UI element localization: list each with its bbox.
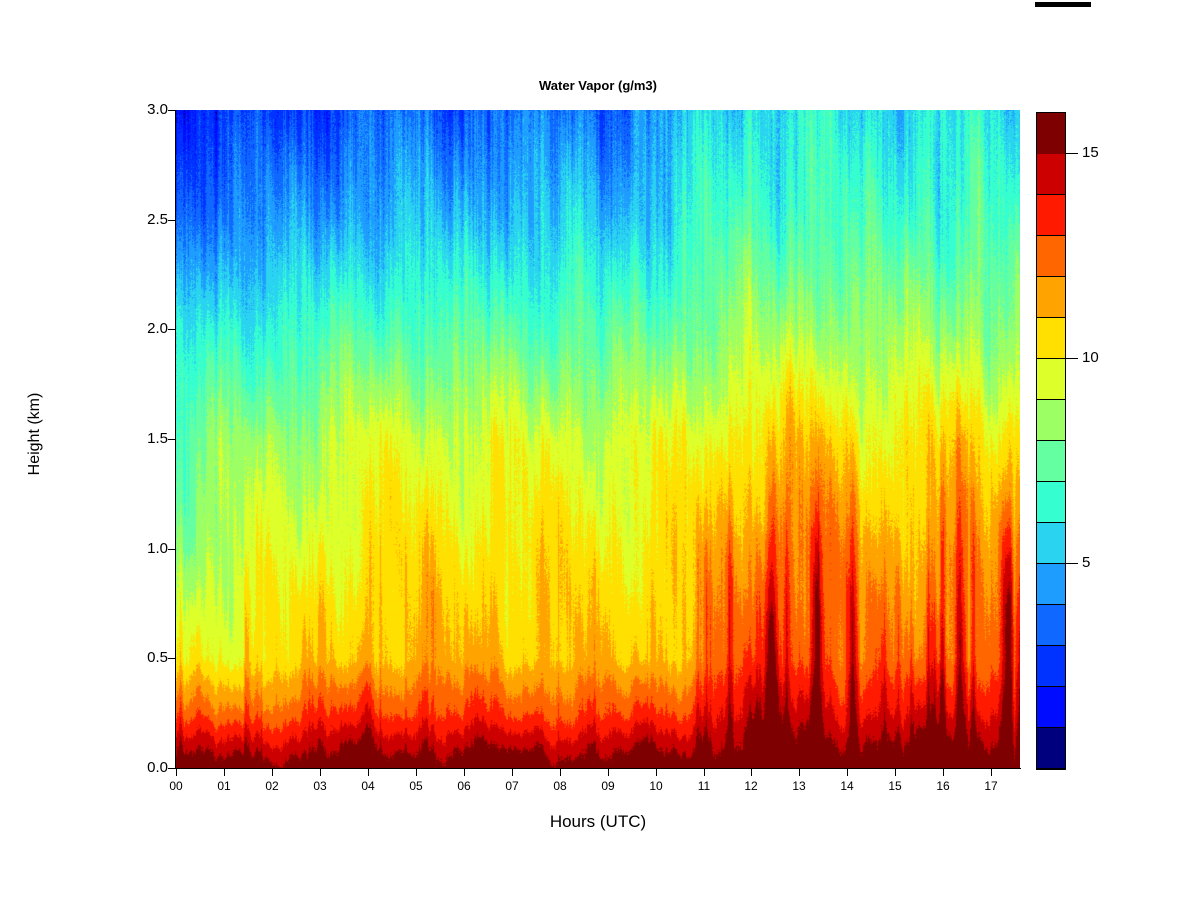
colorbar-band xyxy=(1037,441,1065,482)
y-tick-mark xyxy=(168,110,175,111)
water-vapor-time-height-figure: Water Vapor (g/m3) 0.00.51.01.52.02.53.0… xyxy=(0,0,1200,900)
x-tick-mark xyxy=(464,769,465,776)
y-tick-label: 2.0 xyxy=(128,320,168,337)
x-tick-label: 04 xyxy=(348,779,388,793)
colorbar-band xyxy=(1037,277,1065,318)
colorbar-band xyxy=(1037,154,1065,195)
y-tick-mark xyxy=(168,439,175,440)
y-tick-label: 1.5 xyxy=(128,430,168,447)
x-tick-mark xyxy=(943,769,944,776)
colorbar-tick-label: 15 xyxy=(1082,145,1099,161)
colorbar-band xyxy=(1037,482,1065,523)
x-tick-mark xyxy=(272,769,273,776)
x-tick-mark xyxy=(895,769,896,776)
colorbar-band xyxy=(1037,400,1065,441)
heatmap-plot-area xyxy=(176,110,1020,768)
y-tick-mark xyxy=(168,768,175,769)
x-tick-mark xyxy=(799,769,800,776)
x-tick-label: 01 xyxy=(204,779,244,793)
x-tick-label: 07 xyxy=(492,779,532,793)
y-tick-mark xyxy=(168,220,175,221)
x-tick-mark xyxy=(176,769,177,776)
x-tick-label: 08 xyxy=(540,779,580,793)
y-axis-line xyxy=(175,110,176,769)
x-tick-mark xyxy=(320,769,321,776)
x-tick-mark xyxy=(224,769,225,776)
colorbar-band xyxy=(1037,236,1065,277)
x-tick-label: 14 xyxy=(827,779,867,793)
x-tick-mark xyxy=(368,769,369,776)
x-tick-label: 00 xyxy=(156,779,196,793)
x-tick-label: 02 xyxy=(252,779,292,793)
colorbar-tick-mark xyxy=(1066,358,1078,359)
colorbar-band xyxy=(1037,605,1065,646)
x-tick-label: 10 xyxy=(636,779,676,793)
x-tick-label: 16 xyxy=(923,779,963,793)
colorbar-band xyxy=(1037,318,1065,359)
y-tick-label: 0.0 xyxy=(128,759,168,776)
y-axis-title: Height (km) xyxy=(26,354,44,514)
x-tick-mark xyxy=(751,769,752,776)
y-tick-mark xyxy=(168,658,175,659)
x-tick-mark xyxy=(991,769,992,776)
colorbar-band xyxy=(1037,564,1065,605)
colorbar xyxy=(1036,112,1066,770)
y-tick-label: 3.0 xyxy=(128,101,168,118)
x-tick-label: 03 xyxy=(300,779,340,793)
y-tick-label: 1.0 xyxy=(128,540,168,557)
x-tick-label: 15 xyxy=(875,779,915,793)
colorbar-band xyxy=(1037,523,1065,564)
x-tick-label: 06 xyxy=(444,779,484,793)
x-tick-label: 13 xyxy=(779,779,819,793)
x-tick-mark xyxy=(560,769,561,776)
colorbar-band xyxy=(1037,113,1065,154)
colorbar-tick-label: 10 xyxy=(1082,350,1099,366)
x-tick-label: 09 xyxy=(588,779,628,793)
x-tick-label: 17 xyxy=(971,779,1011,793)
colorbar-band xyxy=(1037,646,1065,687)
x-tick-mark xyxy=(416,769,417,776)
x-tick-label: 12 xyxy=(731,779,771,793)
colorbar-tick-label: 5 xyxy=(1082,555,1090,571)
colorbar-band xyxy=(1037,687,1065,728)
y-tick-mark xyxy=(168,549,175,550)
x-tick-mark xyxy=(608,769,609,776)
x-tick-mark xyxy=(704,769,705,776)
chart-title: Water Vapor (g/m3) xyxy=(176,78,1020,93)
y-tick-mark xyxy=(168,329,175,330)
colorbar-band xyxy=(1037,728,1065,769)
x-tick-label: 11 xyxy=(684,779,724,793)
y-tick-label: 2.5 xyxy=(128,211,168,228)
colorbar-band xyxy=(1037,359,1065,400)
colorbar-tick-mark xyxy=(1066,563,1078,564)
y-tick-label: 0.5 xyxy=(128,649,168,666)
x-tick-mark xyxy=(512,769,513,776)
x-axis-title: Hours (UTC) xyxy=(176,812,1020,832)
colorbar-band xyxy=(1037,195,1065,236)
x-tick-label: 05 xyxy=(396,779,436,793)
x-tick-mark xyxy=(847,769,848,776)
x-tick-mark xyxy=(656,769,657,776)
top-edge-artifact xyxy=(1035,2,1091,7)
colorbar-tick-mark xyxy=(1066,153,1078,154)
